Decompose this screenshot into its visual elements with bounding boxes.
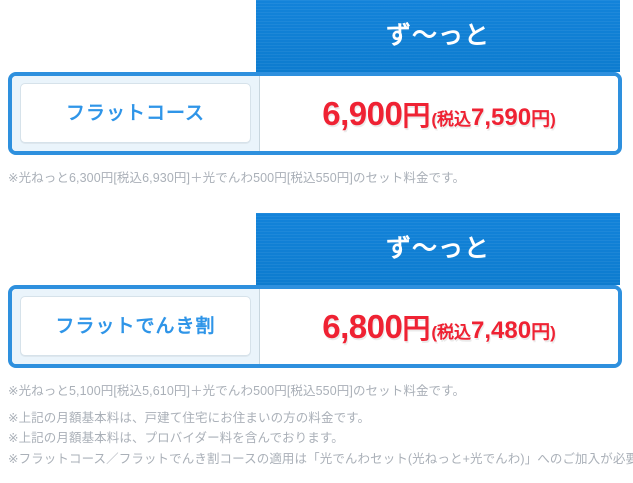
price-tax-close-paren: ) — [550, 323, 556, 342]
price-line: 6,800 円 (税込7,480円) — [322, 310, 556, 343]
price-tax-label: 税込 — [437, 110, 471, 129]
course-name-label: フラットでんき割 — [55, 317, 215, 336]
banner-label: ず〜っと — [256, 24, 620, 49]
footnote-line: ※上記の月額基本料は、戸建て住宅にお住まいの方の料金です。 — [8, 408, 633, 428]
course-pill: フラットコース — [20, 83, 251, 143]
plan-banner: ず〜っと — [256, 213, 620, 285]
price-cell: 6,800 円 (税込7,480円) — [260, 289, 618, 364]
price-currency-unit: 円 — [402, 315, 430, 343]
course-name-label: フラットコース — [66, 104, 205, 123]
footnote-line: ※上記の月額基本料は、プロバイダー料を含んでおります。 — [8, 428, 633, 448]
price-cell: 6,900 円 (税込7,590円) — [260, 76, 618, 151]
plan-card: フラットでんき割 6,800 円 (税込7,480円) — [8, 285, 622, 368]
price-amount: 6,800 — [322, 310, 402, 343]
price-tax-currency-unit: 円 — [531, 109, 550, 130]
banner-label: ず〜っと — [256, 237, 620, 262]
course-name-cell: フラットでんき割 — [12, 289, 260, 364]
price-tax-group: (税込7,480円) — [431, 319, 555, 343]
footnotes: ※上記の月額基本料は、戸建て住宅にお住まいの方の料金です。 ※上記の月額基本料は… — [8, 408, 633, 469]
price-tax-amount: 7,480 — [471, 317, 531, 344]
course-name-cell: フラットコース — [12, 76, 260, 151]
plan-card: フラットコース 6,900 円 (税込7,590円) — [8, 72, 622, 155]
price-tax-amount: 7,590 — [471, 104, 531, 131]
footnote-line: ※フラットコース／フラットでんき割コースの適用は「光でんわセット(光ねっと+光で… — [8, 449, 633, 469]
pricing-table: ず〜っと フラットコース 6,900 円 (税込7,590円) ※光ねっと6,3… — [0, 0, 633, 483]
price-amount: 6,900 — [322, 97, 402, 130]
price-tax-label: 税込 — [437, 323, 471, 342]
price-line: 6,900 円 (税込7,590円) — [322, 97, 556, 130]
plan-note: ※光ねっと6,300円[税込6,930円]＋光でんわ500円[税込550円]のセ… — [8, 172, 465, 186]
course-pill: フラットでんき割 — [20, 296, 251, 356]
price-tax-currency-unit: 円 — [531, 322, 550, 343]
price-currency-unit: 円 — [402, 102, 430, 130]
price-tax-group: (税込7,590円) — [431, 106, 555, 130]
price-tax-close-paren: ) — [550, 110, 556, 129]
plan-banner: ず〜っと — [256, 0, 620, 72]
plan-note: ※光ねっと5,100円[税込5,610円]＋光でんわ500円[税込550円]のセ… — [8, 385, 465, 399]
